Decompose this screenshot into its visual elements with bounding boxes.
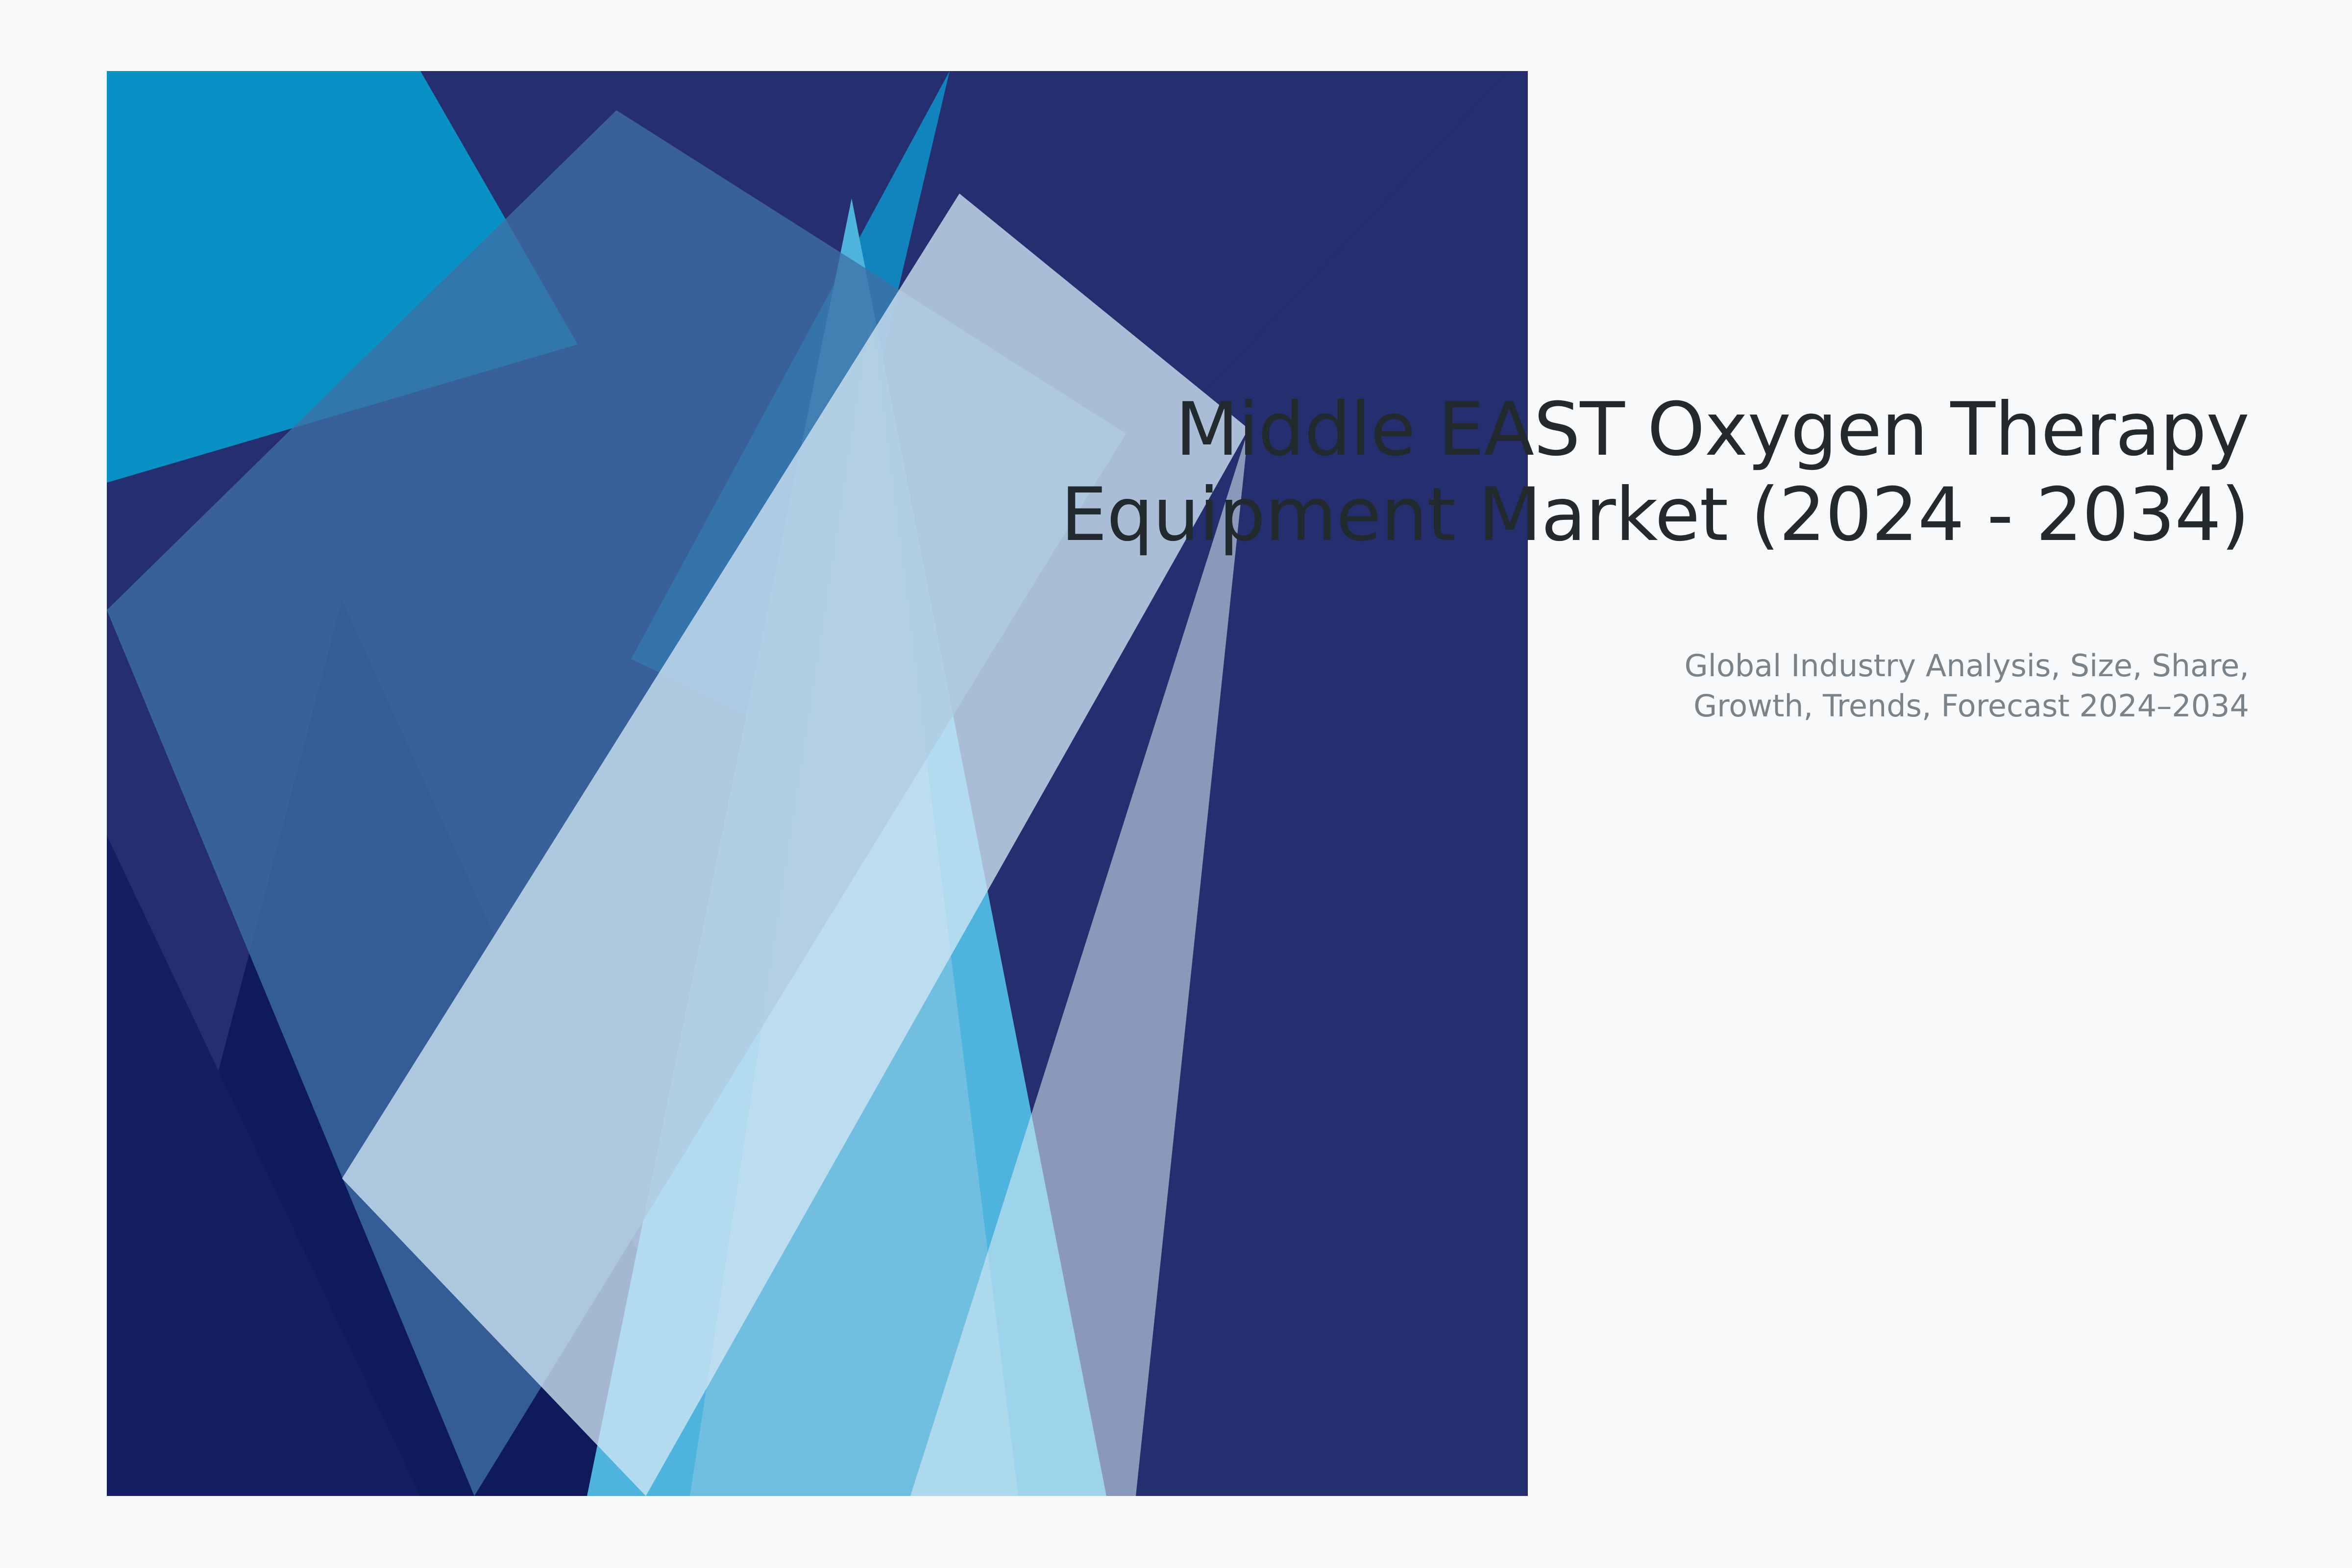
page-title: Middle EAST Oxygen Therapy Equipment Mar… — [931, 387, 2249, 558]
abstract-geometric-cover-graphic — [107, 71, 1528, 1496]
title-line-2: Equipment Market (2024 - 2034) — [1061, 472, 2249, 558]
title-line-2-wrapper: Equipment Market (2024 - 2034) — [1061, 472, 2249, 558]
report-cover-page: Middle EAST Oxygen Therapy Equipment Mar… — [0, 0, 2352, 1568]
page-subtitle: Global Industry Analysis, Size, Share, G… — [1421, 646, 2249, 727]
subtitle-line-2: Growth, Trends, Forecast 2024–2034 — [1421, 686, 2249, 726]
subtitle-line-1: Global Industry Analysis, Size, Share, — [1421, 646, 2249, 686]
title-line-1: Middle EAST Oxygen Therapy — [931, 387, 2249, 472]
